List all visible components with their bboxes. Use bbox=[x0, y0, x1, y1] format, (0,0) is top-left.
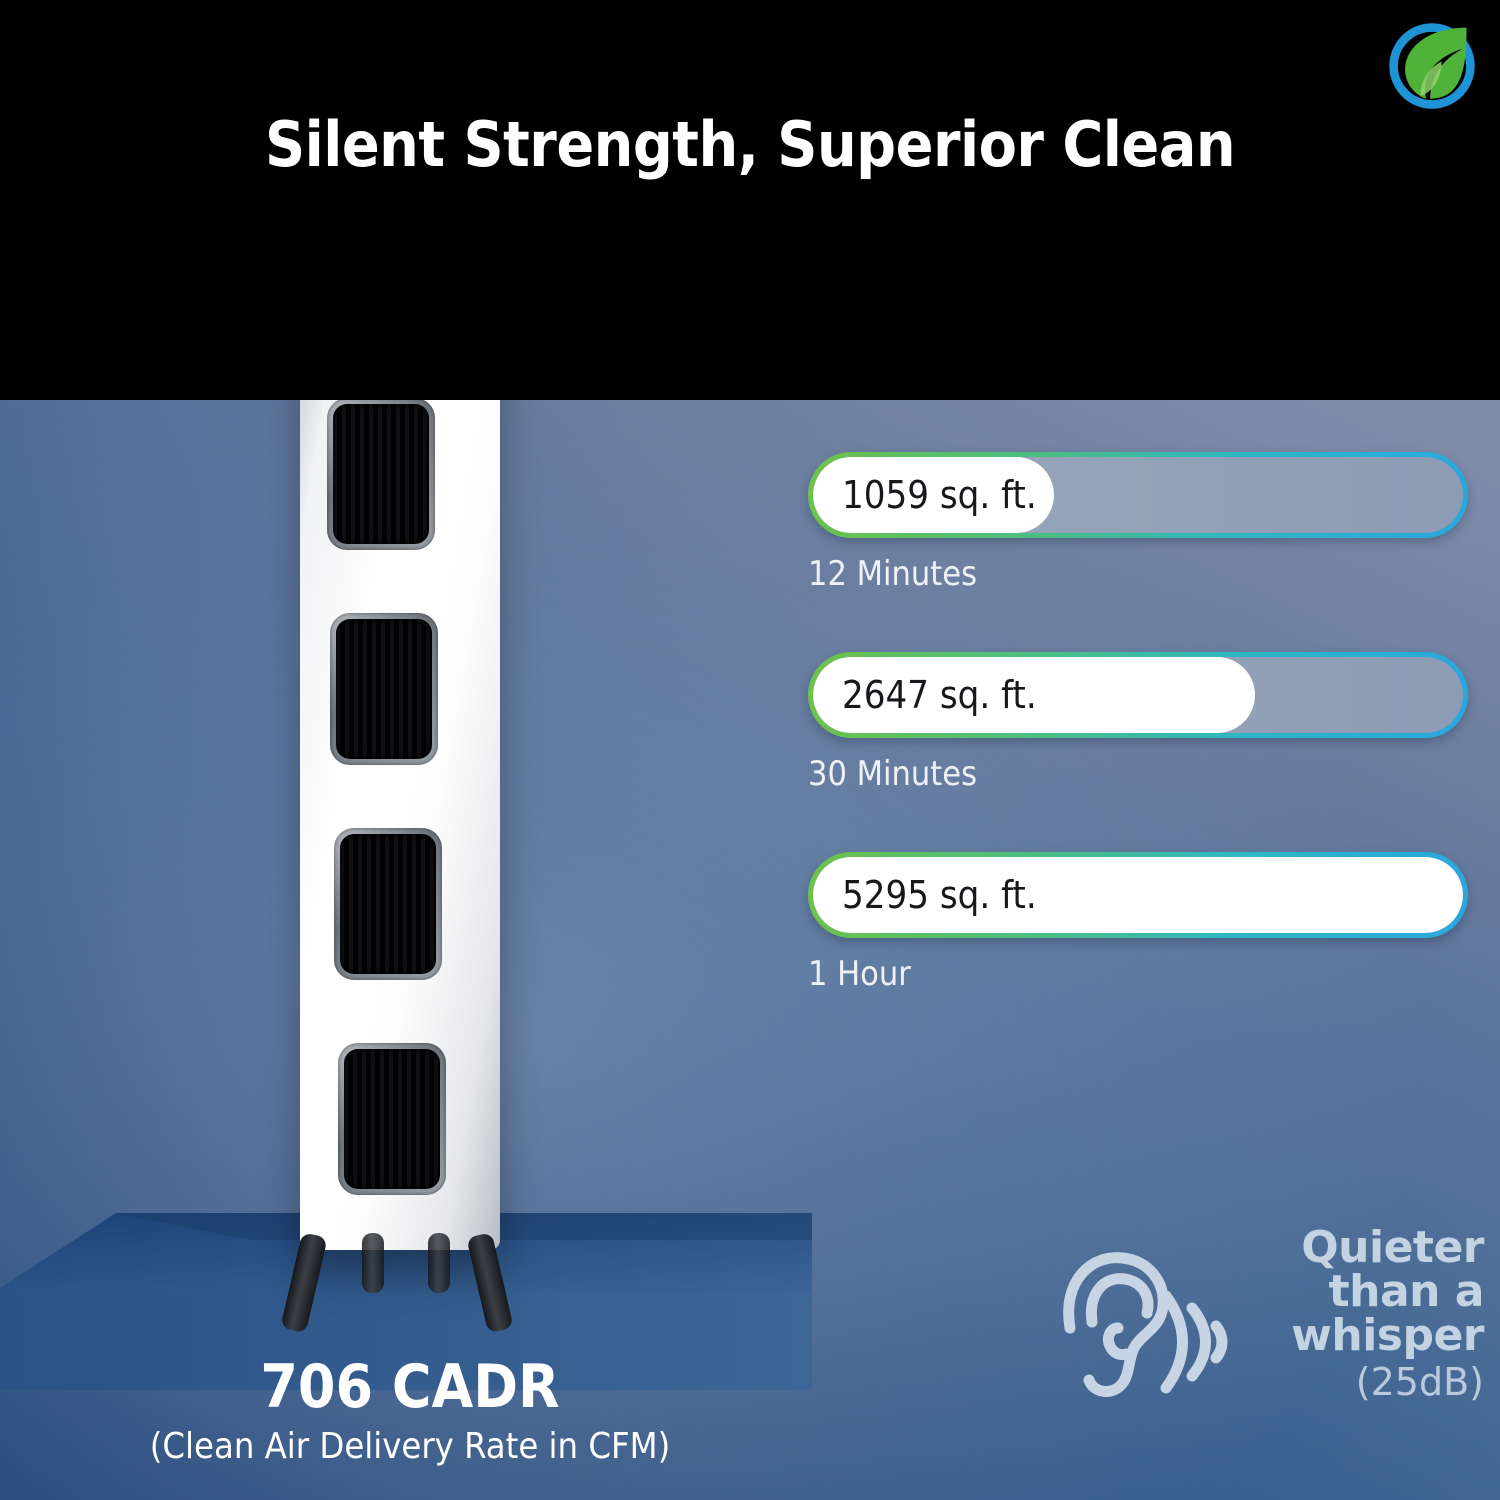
grille-mesh bbox=[333, 404, 429, 544]
grille-mesh bbox=[336, 619, 432, 759]
progress-bar-track-1: 1059 sq. ft. bbox=[808, 452, 1468, 538]
progress-bar-time-3: 1 Hour bbox=[808, 954, 1468, 994]
progress-bar-time-2: 30 Minutes bbox=[808, 754, 1468, 794]
header-band: Silent Strength, Superior Clean bbox=[0, 0, 1500, 400]
noise-level-text: Quieter than a whisper (25dB) bbox=[1240, 1226, 1484, 1404]
progress-bar-track-2: 2647 sq. ft. bbox=[808, 652, 1468, 738]
cadr-block: 706 CADR (Clean Air Delivery Rate in CFM… bbox=[30, 1352, 790, 1467]
coverage-bar-row: 5295 sq. ft. 1 Hour bbox=[808, 852, 1468, 994]
product-grille-3 bbox=[334, 828, 442, 980]
cadr-value: 706 CADR bbox=[30, 1352, 790, 1422]
noise-line-3: whisper bbox=[1240, 1314, 1484, 1358]
grille-mesh bbox=[340, 834, 436, 974]
ear-with-sound-waves-icon bbox=[1040, 1236, 1230, 1436]
coverage-bar-row: 1059 sq. ft. 12 Minutes bbox=[808, 452, 1468, 594]
product-leg-back-left bbox=[362, 1233, 384, 1293]
progress-bar-value-3: 5295 sq. ft. bbox=[842, 873, 1037, 917]
progress-bar-value-2: 2647 sq. ft. bbox=[842, 673, 1037, 717]
progress-bar-time-1: 12 Minutes bbox=[808, 554, 1468, 594]
noise-decibel-value: (25dB) bbox=[1240, 1360, 1484, 1404]
noise-line-2: than a bbox=[1240, 1270, 1484, 1314]
noise-line-1: Quieter bbox=[1240, 1226, 1484, 1270]
product-leg-back-right bbox=[428, 1233, 450, 1293]
coverage-bars-group: 1059 sq. ft. 12 Minutes 2647 sq. ft. 30 … bbox=[808, 452, 1468, 1052]
infographic-canvas: Air Oasis Silent Strength, Superior Clea… bbox=[0, 0, 1500, 1500]
coverage-bar-row: 2647 sq. ft. 30 Minutes bbox=[808, 652, 1468, 794]
grille-mesh bbox=[344, 1049, 440, 1189]
noise-level-block: Quieter than a whisper (25dB) bbox=[1040, 1232, 1480, 1462]
cadr-description: (Clean Air Delivery Rate in CFM) bbox=[30, 1426, 790, 1467]
product-grille-2 bbox=[330, 613, 438, 765]
air-purifier-product-image: Air Oasis bbox=[292, 340, 522, 1300]
leaf-in-circle-logo bbox=[1384, 18, 1480, 114]
product-grille-1 bbox=[327, 398, 435, 550]
product-grille-4 bbox=[338, 1043, 446, 1195]
progress-bar-track-3: 5295 sq. ft. bbox=[808, 852, 1468, 938]
page-title: Silent Strength, Superior Clean bbox=[0, 108, 1500, 181]
progress-bar-value-1: 1059 sq. ft. bbox=[842, 473, 1037, 517]
